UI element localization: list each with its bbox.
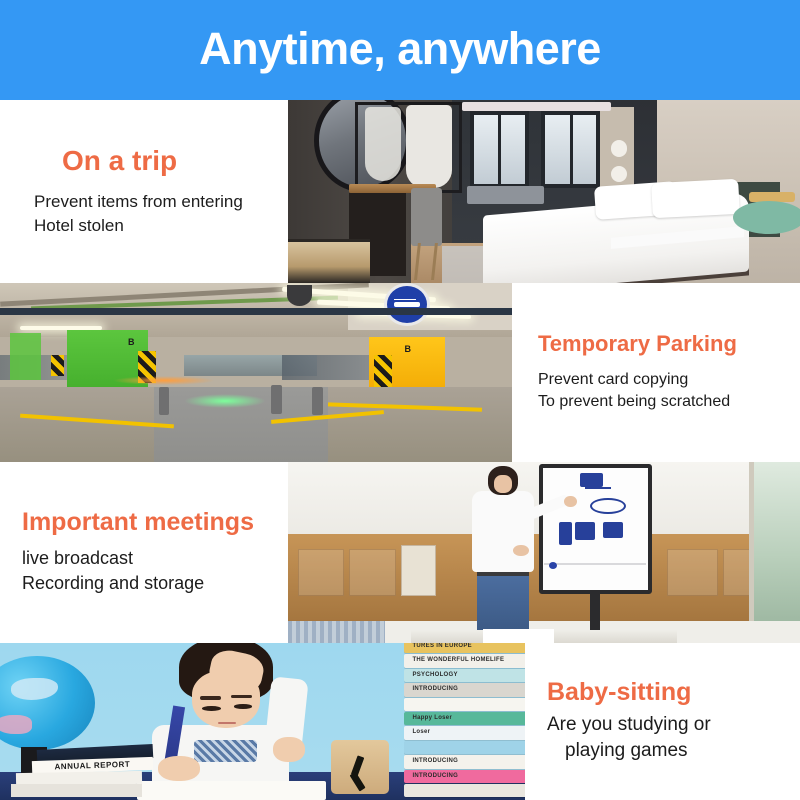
presenter-pointing-hand — [564, 496, 576, 507]
book-white-2 — [11, 784, 142, 797]
section-temporary-parking-text: Temporary Parking Prevent card copying T… — [512, 283, 800, 462]
stack-book-9: INTRODUCING — [404, 755, 525, 768]
bathrobe-1 — [365, 107, 401, 180]
diagram-laptop-icon — [603, 522, 623, 538]
child-writing-hand — [158, 756, 200, 781]
parking-garage-illustration: B B — [0, 283, 512, 462]
stack-book-5 — [404, 698, 525, 711]
wood-panel-3 — [401, 545, 437, 596]
hotel-room-illustration — [288, 100, 800, 283]
luggage-bench — [288, 239, 370, 283]
child-mouth — [218, 722, 236, 725]
section-important-meetings: Important meetings live broadcast Record… — [0, 462, 800, 643]
stack-book-7-title: Loser — [412, 729, 430, 735]
bollard-1 — [159, 387, 169, 416]
green-light-reflection — [184, 394, 266, 408]
section-important-meetings-line-2: Recording and storage — [22, 571, 288, 596]
section-temporary-parking: B B Temporary Parking Prevent card copyi… — [0, 283, 800, 462]
wall-lamp-lower — [611, 166, 627, 182]
chair-legs — [414, 243, 438, 280]
diagram-laptop-top — [580, 473, 603, 487]
radiator — [467, 186, 544, 204]
hotel-room-photo — [288, 100, 800, 283]
section-on-a-trip-line-1: Prevent items from entering — [34, 190, 288, 213]
window-right — [541, 111, 600, 188]
stack-book-10-title: INTRODUCING — [412, 773, 458, 779]
bollard-3 — [312, 387, 322, 416]
child-eye-right — [234, 704, 252, 709]
presenter-face — [494, 475, 512, 493]
section-on-a-trip-text: On a trip Prevent items from entering Ho… — [0, 100, 288, 283]
pillow-2 — [651, 178, 740, 217]
stack-book-3: PSYCHOLOGY — [404, 669, 525, 682]
diagram-server-icon — [559, 522, 572, 546]
stack-book-1: TURES IN EUROPE — [404, 643, 525, 653]
green-side-table — [733, 201, 800, 234]
section-baby-sitting: ANNUAL REPORT TURES IN EUROPE THE WONDER… — [0, 643, 800, 800]
wood-panel-4 — [667, 549, 718, 596]
section-on-a-trip-line-2: Hotel stolen — [34, 214, 288, 237]
section-temporary-parking-line-2: To prevent being scratched — [538, 391, 800, 413]
desk-chair — [411, 188, 442, 247]
section-temporary-parking-line-1: Prevent card copying — [538, 369, 800, 391]
presenter-open-hand — [513, 545, 528, 556]
book-white-1 — [16, 771, 142, 786]
parking-garage-photo: B B — [0, 283, 512, 462]
stack-book-11 — [404, 784, 525, 797]
diagram-annotation — [585, 487, 611, 489]
child-eyebrow-right — [231, 695, 252, 698]
section-baby-sitting-title: Baby-sitting — [547, 679, 800, 707]
wood-panel-2 — [349, 549, 395, 596]
hazard-stripe-3 — [51, 355, 64, 376]
section-baby-sitting-line-2: playing games — [547, 738, 800, 764]
meeting-documents — [483, 629, 555, 643]
section-important-meetings-line-1: live broadcast — [22, 546, 288, 571]
stack-book-6: Happy Loser — [404, 712, 525, 725]
child-studying-illustration: ANNUAL REPORT TURES IN EUROPE THE WONDER… — [0, 643, 525, 800]
stack-book-6-title: Happy Loser — [412, 715, 452, 721]
diagram-monitor-icon — [575, 522, 595, 540]
section-temporary-parking-title: Temporary Parking — [538, 332, 800, 356]
stack-book-10: INTRODUCING — [404, 770, 525, 783]
bathrobe-2 — [406, 105, 452, 187]
stack-book-4: INTRODUCING — [404, 683, 525, 696]
meeting-room-photo — [288, 462, 800, 643]
stack-book-3-title: PSYCHOLOGY — [412, 672, 457, 678]
hazard-stripe-2 — [374, 355, 392, 387]
pillar-letter-yellow: B — [404, 344, 411, 354]
direction-arrow-sign-icon — [384, 283, 430, 326]
meeting-window — [749, 462, 800, 621]
wall-lamp-upper — [611, 140, 627, 156]
section-important-meetings-text: Important meetings live broadcast Record… — [0, 462, 288, 643]
globe-landmass-2 — [0, 715, 32, 734]
promo-page: Anytime, anywhere On a trip Prevent item… — [0, 0, 800, 800]
presenter-jeans — [477, 574, 528, 632]
whiteboard-tray — [544, 563, 646, 565]
book-stack: TURES IN EUROPE THE WONDERFUL HOMELIFE P… — [404, 643, 525, 800]
section-baby-sitting-text: Baby-sitting Are you studying or playing… — [525, 643, 800, 800]
child-eyebrow-left — [200, 696, 221, 699]
meeting-room-illustration — [288, 462, 800, 643]
child-left-hand — [273, 737, 305, 762]
stack-book-7: Loser — [404, 726, 525, 739]
ceiling-beam-main — [0, 308, 512, 315]
green-pillar-far — [10, 333, 41, 380]
whiteboard-stand — [590, 592, 600, 632]
stack-book-9-title: INTRODUCING — [412, 758, 458, 764]
child-studying-photo: ANNUAL REPORT TURES IN EUROPE THE WONDER… — [0, 643, 525, 800]
section-important-meetings-title: Important meetings — [22, 509, 288, 537]
whiteboard-marker — [549, 562, 557, 569]
pillar-letter-green: B — [128, 337, 135, 347]
stack-book-8 — [404, 741, 525, 754]
section-on-a-trip: On a trip Prevent items from entering Ho… — [0, 100, 800, 283]
section-on-a-trip-title: On a trip — [62, 146, 288, 177]
stack-book-1-title: TURES IN EUROPE — [412, 643, 472, 649]
window-valance — [462, 102, 610, 111]
window-left — [470, 111, 529, 188]
child-school-tie — [194, 740, 257, 762]
stack-book-4-title: INTRODUCING — [412, 686, 458, 692]
globe-icon — [0, 656, 95, 750]
annual-report-title: ANNUAL REPORT — [54, 760, 130, 772]
wood-panel-1 — [298, 549, 344, 596]
wardrobe-rail — [355, 102, 463, 105]
bollard-2 — [271, 385, 281, 414]
page-title: Anytime, anywhere — [199, 26, 601, 75]
open-notebook — [137, 781, 326, 800]
section-baby-sitting-line-1: Are you studying or — [547, 712, 800, 738]
stack-book-2-title: THE WONDERFUL HOMELIFE — [412, 657, 504, 663]
child-eye-left — [202, 706, 220, 711]
page-header: Anytime, anywhere — [0, 0, 800, 100]
stack-book-2: THE WONDERFUL HOMELIFE — [404, 654, 525, 667]
parked-cars-right — [282, 355, 369, 380]
orange-light-trail — [113, 376, 215, 385]
